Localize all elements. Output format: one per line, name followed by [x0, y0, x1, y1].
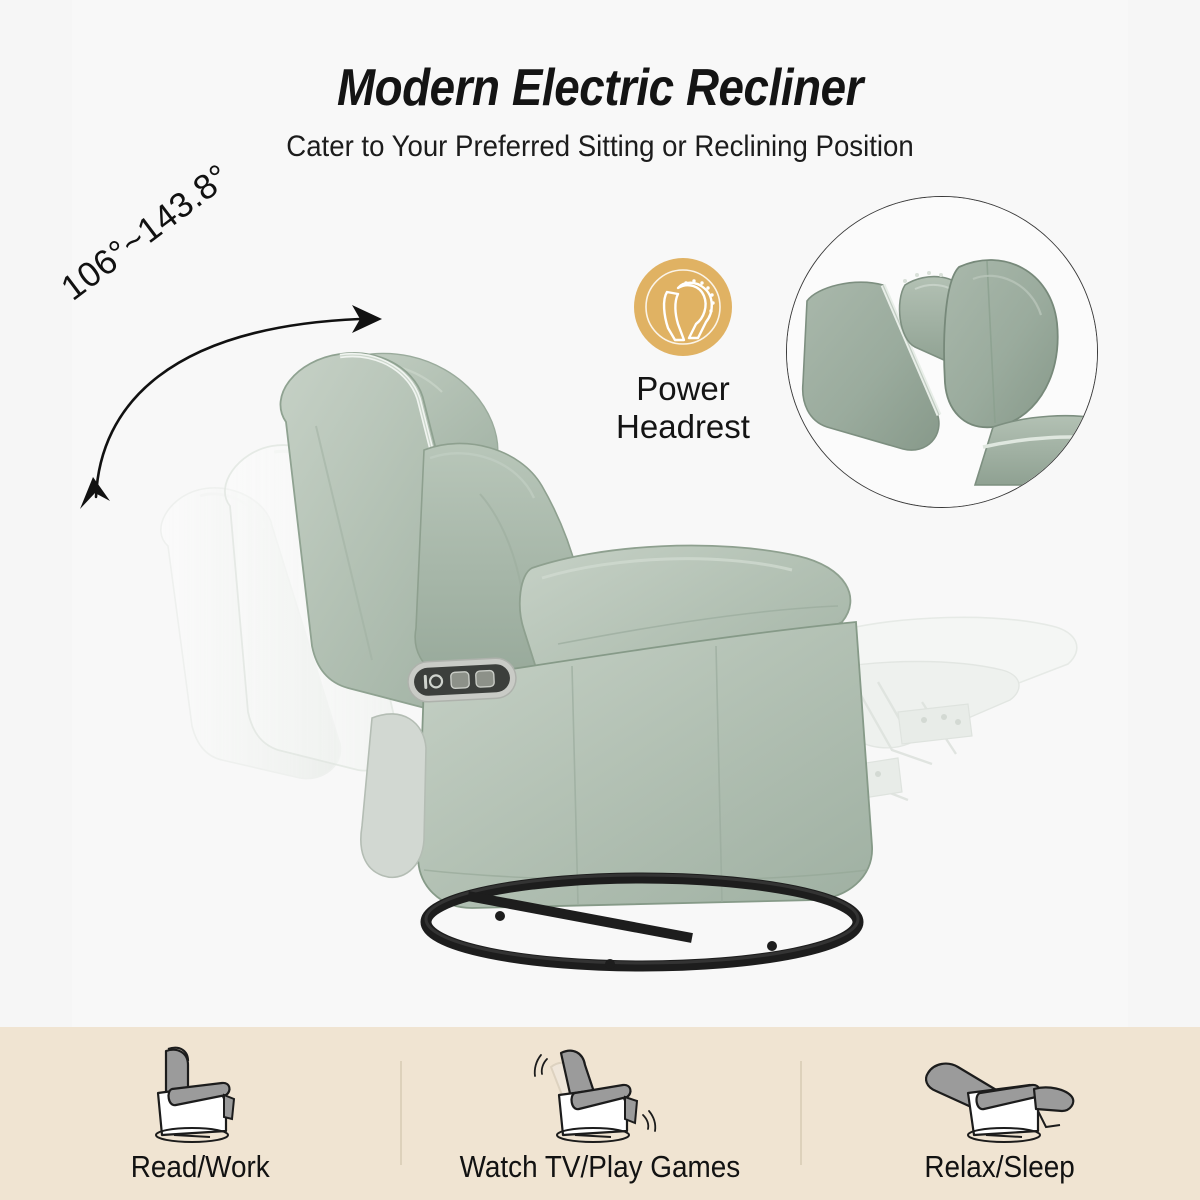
badge-line-2: Headrest	[563, 408, 803, 446]
recline-angle-annotation: 106°~143.8°	[60, 255, 400, 525]
swivel-arm	[361, 714, 426, 877]
feature-label: Relax/Sleep	[925, 1149, 1075, 1185]
infographic-stage: Modern Electric Recliner Cater to Your P…	[0, 0, 1200, 1200]
badge-line-1: Power	[563, 370, 803, 408]
power-headrest-icon	[634, 258, 732, 356]
headrest-closeup-inset	[786, 196, 1098, 508]
recliner-full-recline-icon	[920, 1045, 1080, 1143]
header: Modern Electric Recliner Cater to Your P…	[0, 0, 1200, 164]
power-headrest-label: Power Headrest	[563, 370, 803, 447]
recliner-upright-icon	[136, 1045, 264, 1143]
feature-item-relax-sleep[interactable]: Relax/Sleep	[800, 1027, 1200, 1200]
power-control-panel[interactable]	[407, 657, 517, 703]
page-title: Modern Electric Recliner	[72, 58, 1128, 118]
usage-feature-bar: Read/Work	[0, 1027, 1200, 1200]
recliner-partial-recline-icon	[525, 1045, 675, 1143]
feature-item-watch-tv-play-games[interactable]: Watch TV/Play Games	[400, 1027, 800, 1200]
angle-arc-arrow	[60, 255, 400, 525]
feature-label: Watch TV/Play Games	[460, 1149, 741, 1185]
headrest-closeup-image	[787, 197, 1098, 508]
power-headrest-feature: Power Headrest	[563, 258, 803, 447]
feature-label: Read/Work	[130, 1149, 269, 1185]
feature-item-read-work[interactable]: Read/Work	[0, 1027, 400, 1200]
